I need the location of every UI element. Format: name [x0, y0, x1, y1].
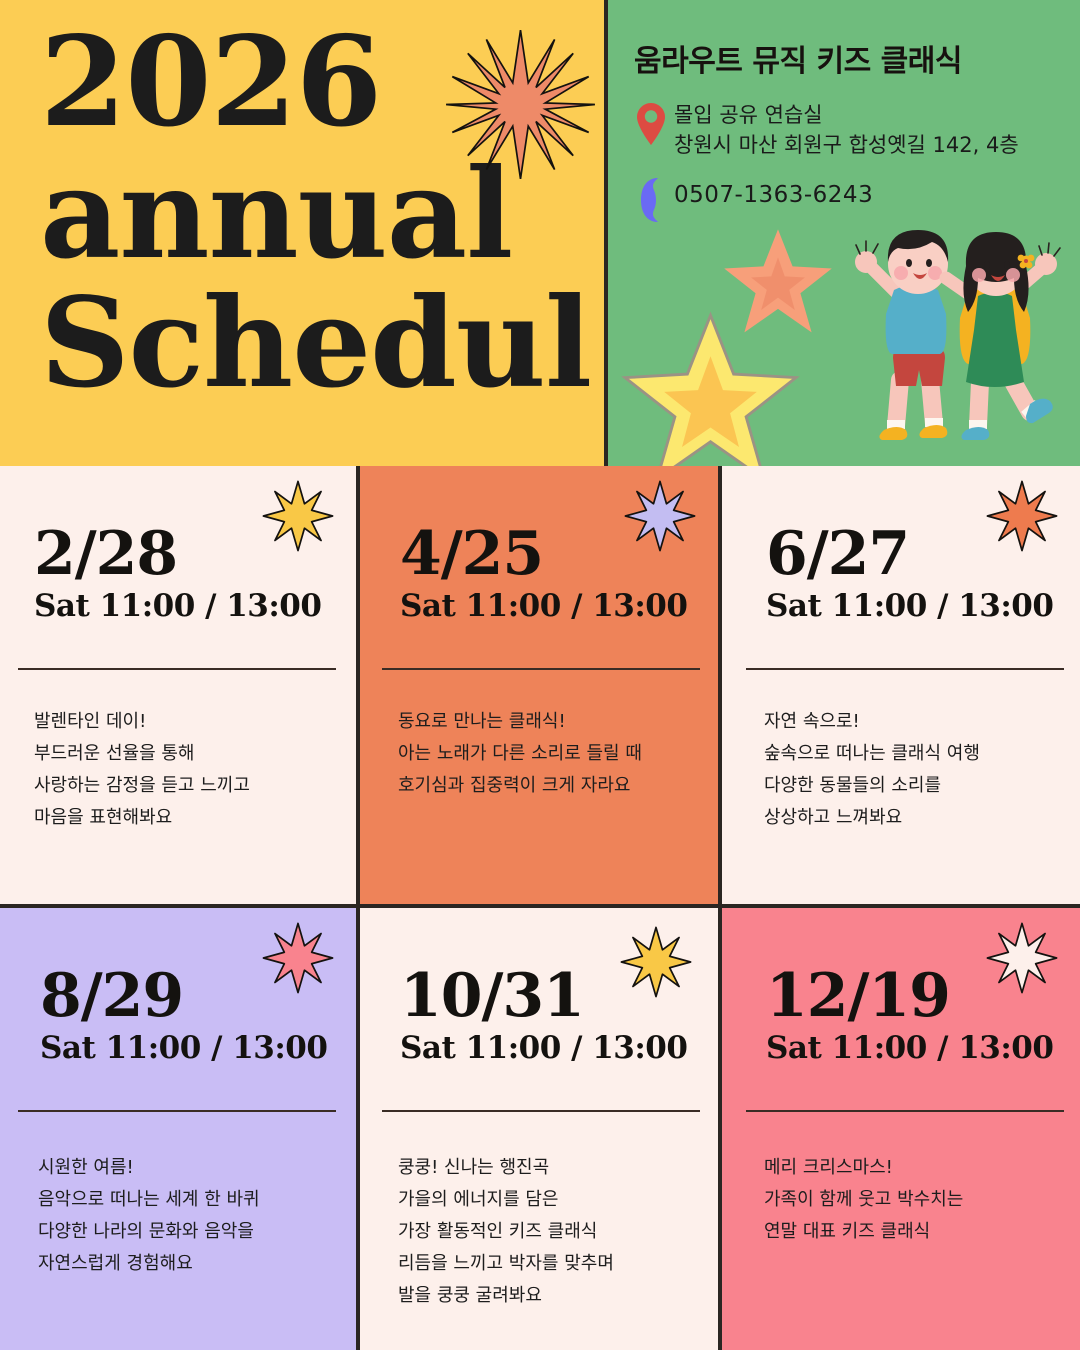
- star-icon: [262, 922, 334, 994]
- card-divider: [382, 1110, 700, 1112]
- child-girl: [946, 232, 1060, 440]
- star-icon: [618, 310, 803, 466]
- schedule-card[interactable]: 10/31 Sat 11:00 / 13:00 쿵쿵! 신나는 행진곡 가을의 …: [360, 908, 718, 1350]
- schedule-card[interactable]: 4/25 Sat 11:00 / 13:00 동요로 만나는 클래식! 아는 노…: [360, 466, 718, 904]
- star-icon: [262, 480, 334, 552]
- card-time: Sat 11:00 / 13:00: [766, 588, 1053, 624]
- child-boy: [855, 230, 948, 440]
- card-date: 12/19: [766, 966, 950, 1026]
- starburst-icon: [443, 12, 598, 197]
- card-description: 발렌타인 데이! 부드러운 선율을 통해 사랑하는 감정을 듣고 느끼고 마음을…: [34, 706, 334, 834]
- header-title-panel: 2026 annual Schedul: [0, 0, 604, 466]
- card-divider: [18, 668, 336, 670]
- card-time: Sat 11:00 / 13:00: [400, 588, 687, 624]
- star-icon: [620, 926, 692, 998]
- card-date: 6/27: [766, 524, 909, 584]
- card-divider: [746, 668, 1064, 670]
- title-line-3: Schedul: [40, 283, 580, 405]
- card-date: 2/28: [34, 524, 177, 584]
- card-time: Sat 11:00 / 13:00: [40, 1030, 327, 1066]
- star-icon: [986, 922, 1058, 994]
- card-description: 메리 크리스마스! 가족이 함께 웃고 박수치는 연말 대표 키즈 클래식: [764, 1152, 1070, 1248]
- card-description: 동요로 만나는 클래식! 아는 노래가 다른 소리로 들릴 때 호기심과 집중력…: [398, 706, 708, 802]
- card-description: 시원한 여름! 음악으로 떠나는 세계 한 바퀴 다양한 나라의 문화와 음악을…: [38, 1152, 338, 1280]
- card-time: Sat 11:00 / 13:00: [400, 1030, 687, 1066]
- venue-address: 창원시 마산 회원구 합성옛길 142, 4층: [674, 130, 1019, 160]
- schedule-card[interactable]: 8/29 Sat 11:00 / 13:00 시원한 여름! 음악으로 떠나는 …: [0, 908, 356, 1350]
- card-description: 자연 속으로! 숲속으로 떠나는 클래식 여행 다양한 동물들의 소리를 상상하…: [764, 706, 1070, 834]
- card-time: Sat 11:00 / 13:00: [34, 588, 321, 624]
- two-children-illustration: [830, 230, 1070, 464]
- card-divider: [18, 1110, 336, 1112]
- schedule-card[interactable]: 2/28 Sat 11:00 / 13:00 발렌타인 데이! 부드러운 선율을…: [0, 466, 356, 904]
- schedule-card[interactable]: 12/19 Sat 11:00 / 13:00 메리 크리스마스! 가족이 함께…: [722, 908, 1080, 1350]
- star-icon: [624, 480, 696, 552]
- venue-address-block: 몰입 공유 연습실 창원시 마산 회원구 합성옛길 142, 4층: [674, 100, 1019, 161]
- star-icon: [986, 480, 1058, 552]
- header-info-panel: 움라우트 뮤직 키즈 클래식 몰입 공유 연습실 창원시 마산 회원구 합성옛길…: [608, 0, 1080, 466]
- phone-icon: [638, 176, 664, 224]
- card-description: 쿵쿵! 신나는 행진곡 가을의 에너지를 담은 가장 활동적인 키즈 클래식 리…: [398, 1152, 708, 1312]
- phone-number: 0507-1363-6243: [674, 182, 873, 208]
- venue-name: 몰입 공유 연습실: [674, 100, 1019, 130]
- card-date: 10/31: [400, 966, 584, 1026]
- card-divider: [746, 1110, 1064, 1112]
- card-time: Sat 11:00 / 13:00: [766, 1030, 1053, 1066]
- card-date: 8/29: [40, 966, 183, 1026]
- card-divider: [382, 668, 700, 670]
- schedule-grid: 2/28 Sat 11:00 / 13:00 발렌타인 데이! 부드러운 선율을…: [0, 466, 1080, 1350]
- poster-header: 2026 annual Schedul 움라우트 뮤직 키즈 클래식 몰입 공유…: [0, 0, 1080, 466]
- card-date: 4/25: [400, 524, 543, 584]
- schedule-card[interactable]: 6/27 Sat 11:00 / 13:00 자연 속으로! 숲속으로 떠나는 …: [722, 466, 1080, 904]
- brand-title: 움라우트 뮤직 키즈 클래식: [634, 36, 962, 80]
- poster-root: 2026 annual Schedul 움라우트 뮤직 키즈 클래식 몰입 공유…: [0, 0, 1080, 1350]
- location-pin-icon: [636, 102, 666, 146]
